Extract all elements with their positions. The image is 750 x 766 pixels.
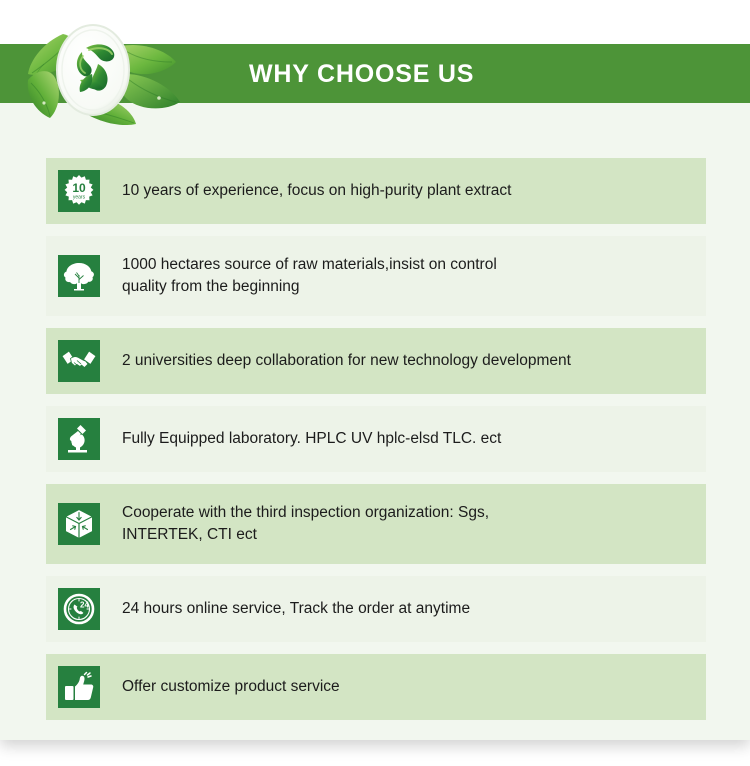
handshake-icon (58, 340, 100, 382)
list-item: 2 universities deep collaboration for ne… (46, 328, 706, 394)
feature-list: 10 years 10 years of experience, focus o… (46, 158, 706, 732)
leaf-medallion-logo (14, 12, 224, 134)
package-inspection-cube-icon (58, 503, 100, 545)
list-item-text: 24 hours online service, Track the order… (122, 598, 706, 620)
list-item-text: 10 years of experience, focus on high-pu… (122, 180, 706, 202)
content-card: WHY CHOOSE US 10 years 10 years of exper… (0, 0, 750, 740)
page-title: WHY CHOOSE US (249, 57, 474, 91)
microscope-icon (58, 418, 100, 460)
twentyfour-hour-phone-clock-icon: 24 (58, 588, 100, 630)
list-item: Fully Equipped laboratory. HPLC UV hplc-… (46, 406, 706, 472)
thumbs-up-icon (58, 666, 100, 708)
ten-years-badge-icon: 10 years (58, 170, 100, 212)
why-choose-us-page: WHY CHOOSE US 10 years 10 years of exper… (0, 0, 750, 766)
svg-text:10: 10 (72, 181, 86, 195)
list-item-text: Fully Equipped laboratory. HPLC UV hplc-… (122, 428, 706, 450)
list-item-text: 2 universities deep collaboration for ne… (122, 350, 706, 372)
list-item-text: 1000 hectares source of raw materials,in… (122, 254, 706, 299)
list-item-text: Cooperate with the third inspection orga… (122, 502, 706, 547)
svg-text:24: 24 (80, 601, 89, 610)
list-item: Offer customize product service (46, 654, 706, 720)
list-item: Cooperate with the third inspection orga… (46, 484, 706, 564)
list-item-text: Offer customize product service (122, 676, 706, 698)
tree-icon (58, 255, 100, 297)
list-item: 10 years 10 years of experience, focus o… (46, 158, 706, 224)
list-item: 24 24 hours online service, Track the or… (46, 576, 706, 642)
list-item: 1000 hectares source of raw materials,in… (46, 236, 706, 316)
svg-text:years: years (73, 195, 86, 201)
